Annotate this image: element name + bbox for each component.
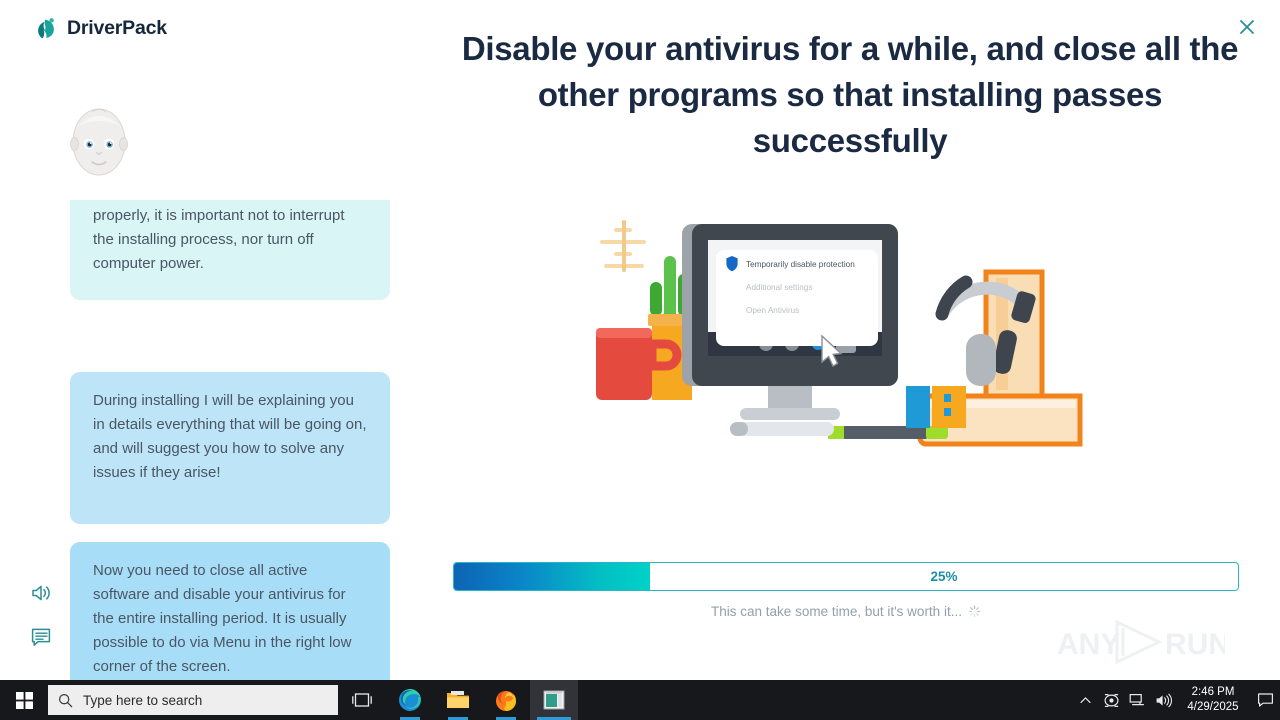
coffee-steam-icon [600, 220, 646, 272]
clock-date: 4/29/2025 [1187, 700, 1238, 715]
chat-bubble: properly, it is important not to interru… [70, 200, 390, 300]
windows-start-icon [16, 692, 33, 709]
file-explorer-icon [446, 689, 470, 711]
task-view-button[interactable] [338, 680, 386, 720]
assistant-chat-list[interactable]: properly, it is important not to interru… [0, 200, 420, 680]
assistant-avatar-head-icon [68, 100, 130, 180]
progress-caption: This can take some time, but it's worth … [453, 604, 1239, 619]
task-view-icon [352, 691, 372, 709]
windows-taskbar: Type here to search [0, 680, 1280, 720]
volume-icon [1155, 693, 1172, 708]
notification-bubble-icon [1257, 692, 1274, 708]
menu-item-1: Additional settings [746, 283, 812, 292]
page-title: Disable your antivirus for a while, and … [455, 26, 1245, 164]
assistant-panel: properly, it is important not to interru… [0, 60, 420, 680]
screen-recording-icon [1103, 693, 1120, 708]
main-content: Disable your antivirus for a while, and … [420, 0, 1280, 680]
progress-bar[interactable]: 25% [453, 562, 1239, 591]
screen-recording-button[interactable] [1098, 680, 1124, 720]
network-icon [1129, 693, 1145, 707]
chat-bubble-text: During installing I will be explaining y… [93, 392, 367, 481]
network-button[interactable] [1124, 680, 1150, 720]
system-tray: 2:46 PM 4/29/2025 [1072, 680, 1280, 720]
action-center-button[interactable] [1250, 680, 1280, 720]
app-brand-label: DriverPack [67, 17, 167, 40]
driverpack-installer-window: DriverPack [0, 0, 1280, 680]
antivirus-context-menu: Temporarily disable protection Additiona… [716, 250, 878, 346]
driverpack-swirl-logo-icon [34, 16, 58, 40]
firefox-icon [494, 688, 518, 712]
file-explorer-button[interactable] [434, 680, 482, 720]
chat-bubble: During installing I will be explaining y… [70, 372, 390, 524]
taskbar-search-input[interactable]: Type here to search [48, 685, 338, 715]
volume-button[interactable] [1150, 680, 1176, 720]
chat-bubble: Now you need to close all active softwar… [70, 542, 390, 680]
installation-progress: 25% This can take some time, but it's wo… [453, 562, 1239, 591]
assistant-side-toolbar [30, 582, 52, 648]
antivirus-disable-illustration: Temporarily disable protection Additiona… [590, 210, 1090, 470]
driverpack-app-button[interactable] [530, 680, 578, 720]
progress-caption-text: This can take some time, but it's worth … [711, 604, 962, 619]
blue-notebook [906, 386, 966, 428]
taskbar-clock[interactable]: 2:46 PM 4/29/2025 [1176, 680, 1250, 720]
loading-spinner-icon [968, 605, 981, 618]
chat-message-icon[interactable] [30, 626, 52, 648]
menu-item-2: Open Antivirus [746, 306, 799, 315]
clock-time: 2:46 PM [1192, 685, 1235, 700]
taskbar-search-placeholder: Type here to search [83, 693, 202, 708]
chevron-up-icon [1079, 694, 1092, 707]
app-brand: DriverPack [34, 16, 167, 40]
speaker-volume-icon[interactable] [30, 582, 52, 604]
progress-percent-label: 25% [454, 563, 1238, 590]
microsoft-edge-icon [398, 688, 422, 712]
firefox-button[interactable] [482, 680, 530, 720]
screen-root: DriverPack [0, 0, 1280, 720]
search-icon [58, 693, 73, 708]
driverpack-app-icon [543, 690, 565, 710]
chat-bubble-text: Now you need to close all active softwar… [93, 562, 351, 675]
chevron-up-button[interactable] [1072, 680, 1098, 720]
windows-start-button[interactable] [0, 680, 48, 720]
menu-item-0: Temporarily disable protection [746, 260, 855, 269]
chat-bubble-text: properly, it is important not to interru… [93, 207, 345, 272]
microsoft-edge-button[interactable] [386, 680, 434, 720]
